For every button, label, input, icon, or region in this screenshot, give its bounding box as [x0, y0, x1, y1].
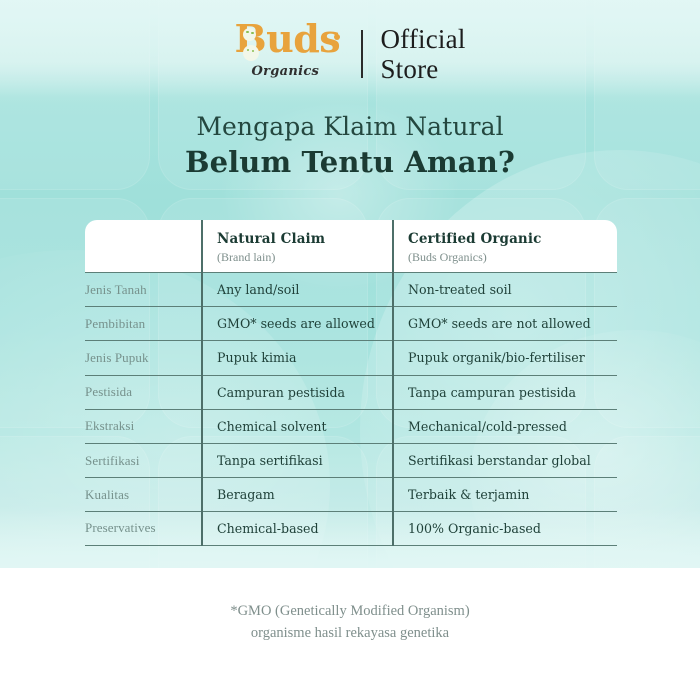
cell-natural-claim: Chemical-based [201, 521, 392, 536]
column-title: Certified Organic [408, 231, 617, 247]
cell-certified-organic: Non-treated soil [392, 282, 617, 297]
logo-subwordmark: Organics [251, 64, 319, 79]
cell-natural-claim: Tanpa sertifikasi [201, 453, 392, 468]
page-title: Mengapa Klaim Natural Belum Tentu Aman? [0, 112, 700, 180]
brand-header: Buds Organics Official Store [0, 18, 700, 90]
table-row: PreservativesChemical-based100% Organic-… [85, 511, 617, 545]
cell-certified-organic: 100% Organic-based [392, 521, 617, 536]
cell-natural-claim: Pupuk kimia [201, 350, 392, 365]
row-label: Jenis Tanah [85, 282, 201, 298]
table-header-cell-certified-organic: Certified Organic (Buds Organics) [392, 220, 617, 265]
table-row: SertifikasiTanpa sertifikasiSertifikasi … [85, 443, 617, 477]
vertical-divider [361, 30, 363, 78]
row-label: Ekstraksi [85, 418, 201, 434]
cell-natural-claim: Any land/soil [201, 282, 392, 297]
table-header-row: Natural Claim (Brand lain) Certified Org… [85, 220, 617, 272]
cell-certified-organic: GMO* seeds are not allowed [392, 316, 617, 331]
official-store-line1: Official [380, 24, 465, 54]
comparison-table: Natural Claim (Brand lain) Certified Org… [85, 220, 617, 546]
buds-organics-logo: Buds Organics [234, 18, 352, 90]
table-row: PembibitanGMO* seeds are allowedGMO* see… [85, 306, 617, 340]
cell-certified-organic: Pupuk organik/bio-fertiliser [392, 350, 617, 365]
table-row: PestisidaCampuran pestisidaTanpa campura… [85, 375, 617, 409]
column-title: Natural Claim [217, 231, 392, 247]
official-store-line2: Store [380, 54, 465, 84]
column-divider [201, 220, 203, 546]
column-subtitle: (Brand lain) [217, 250, 392, 264]
footnote-line-1: *GMO (Genetically Modified Organism) [0, 600, 700, 622]
cell-natural-claim: Beragam [201, 487, 392, 502]
table-body: Jenis TanahAny land/soilNon-treated soil… [85, 272, 617, 546]
cell-natural-claim: Campuran pestisida [201, 385, 392, 400]
footnote-line-2: organisme hasil rekayasa genetika [0, 622, 700, 644]
footnote: *GMO (Genetically Modified Organism) org… [0, 600, 700, 645]
row-label: Pembibitan [85, 316, 201, 332]
row-label: Sertifikasi [85, 453, 201, 469]
cell-certified-organic: Sertifikasi berstandar global [392, 453, 617, 468]
infographic-canvas: Buds Organics Official Store Mengapa Kla… [0, 0, 700, 700]
row-label: Pestisida [85, 384, 201, 400]
cell-natural-claim: GMO* seeds are allowed [201, 316, 392, 331]
row-label: Jenis Pupuk [85, 350, 201, 366]
headline-line-1: Mengapa Klaim Natural [0, 112, 700, 142]
row-label: Kualitas [85, 487, 201, 503]
column-subtitle: (Buds Organics) [408, 250, 617, 264]
cell-certified-organic: Mechanical/cold-pressed [392, 419, 617, 434]
official-store-label: Official Store [380, 24, 465, 84]
table-row: KualitasBeragamTerbaik & terjamin [85, 477, 617, 511]
cell-certified-organic: Terbaik & terjamin [392, 487, 617, 502]
cell-certified-organic: Tanpa campuran pestisida [392, 385, 617, 400]
cell-natural-claim: Chemical solvent [201, 419, 392, 434]
column-divider [392, 220, 394, 546]
table-header-cell-natural-claim: Natural Claim (Brand lain) [201, 220, 392, 265]
row-label: Preservatives [85, 520, 201, 536]
headline-line-2: Belum Tentu Aman? [0, 145, 700, 180]
table-row: EkstraksiChemical solventMechanical/cold… [85, 409, 617, 443]
table-row: Jenis PupukPupuk kimiaPupuk organik/bio-… [85, 340, 617, 374]
table-header-cell-label [85, 220, 201, 231]
table-row: Jenis TanahAny land/soilNon-treated soil [85, 272, 617, 306]
